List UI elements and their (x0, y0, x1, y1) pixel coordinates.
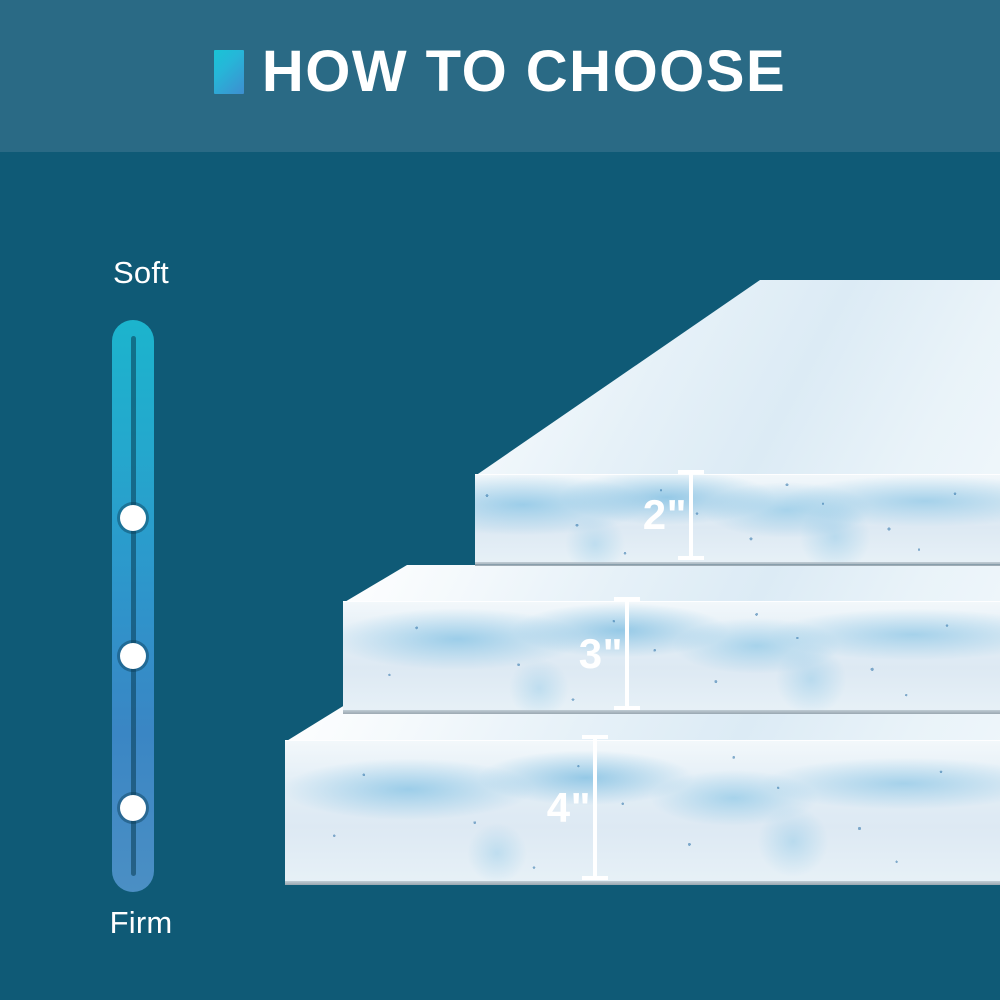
foam-slab-2in-thickness-label: 2" (643, 491, 687, 539)
foam-slab-3in-measurement: 3" (597, 597, 657, 710)
measure-cap-top (614, 597, 640, 601)
measure-line (625, 597, 629, 710)
measure-cap-top (678, 470, 704, 474)
measure-cap-bottom (582, 876, 608, 880)
infographic-canvas: HOW TO CHOOSE 4" 3" (0, 0, 1000, 1000)
measure-line (593, 735, 597, 880)
foam-slab-2in-bottom-edge (415, 562, 1000, 566)
foam-slab-2in-measurement: 2" (661, 470, 721, 560)
foam-slab-3in: 3" (335, 565, 1000, 715)
foam-slab-4in-thickness-label: 4" (547, 784, 591, 832)
firmness-label-soft: Soft (86, 255, 196, 291)
slider-dot-soft[interactable] (120, 505, 146, 531)
firmness-slider-track[interactable] (112, 320, 154, 892)
foam-slab-4in-measurement: 4" (565, 735, 625, 880)
slider-dot-medium[interactable] (120, 643, 146, 669)
measure-cap-bottom (678, 556, 704, 560)
foam-slab-3in-thickness-label: 3" (579, 630, 623, 678)
measure-cap-top (582, 735, 608, 739)
foam-slab-4in-bottom-edge (275, 881, 1000, 885)
foam-slab-2in: 2" (415, 280, 1000, 570)
firmness-label-firm: Firm (86, 905, 196, 941)
measure-cap-bottom (614, 706, 640, 710)
foam-slab-4in-front-face (275, 740, 1000, 885)
firmness-slider[interactable]: Soft Firm (86, 250, 266, 960)
measure-line (689, 470, 693, 560)
slider-dot-firm[interactable] (120, 795, 146, 821)
foam-slab-3in-bottom-edge (335, 710, 1000, 714)
foam-slab-4in: 4" (275, 700, 1000, 885)
foam-slab-3in-front-face (335, 601, 1000, 713)
